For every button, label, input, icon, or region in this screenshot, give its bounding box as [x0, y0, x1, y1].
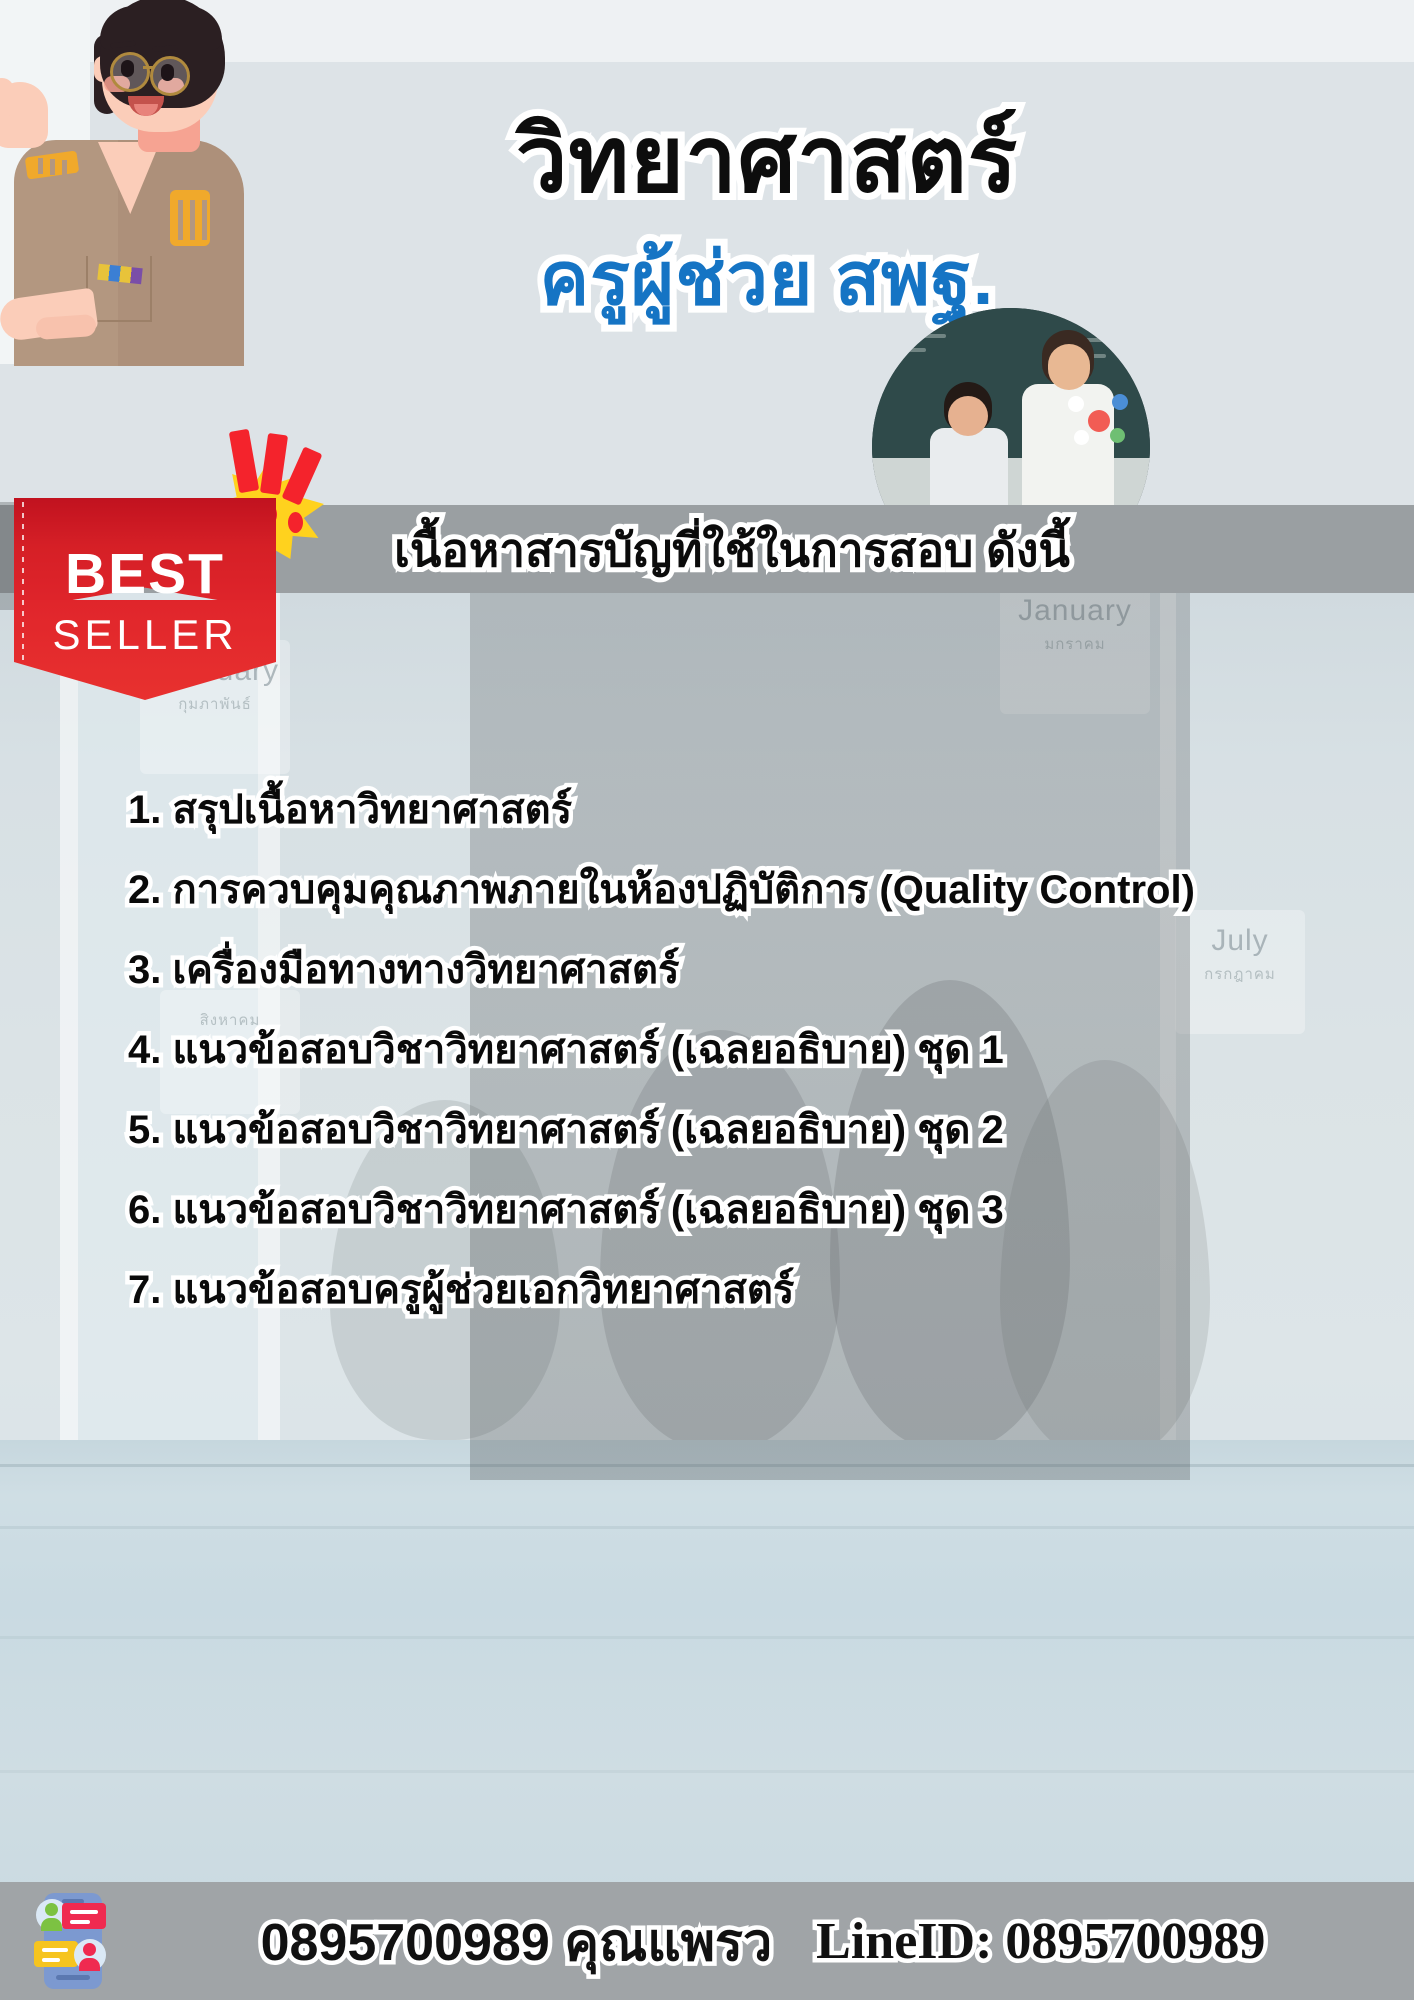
calendar-month-th: กุมภาพันธ์ — [140, 692, 290, 716]
list-item: 1. สรุปเนื้อหาวิทยาศาสตร์ — [0, 790, 1414, 830]
list-item: 7. แนวข้อสอบครูผู้ช่วยเอกวิทยาศาสตร์ — [0, 1270, 1414, 1310]
list-item: 3. เครื่องมือทางทางวิทยาศาสตร์ — [0, 950, 1414, 990]
page-title: วิทยาศาสตร์ — [0, 112, 1414, 209]
content-list: 1. สรุปเนื้อหาวิทยาศาสตร์ 2. การควบคุมคุ… — [0, 790, 1414, 1350]
footer-phone: 0895700989 คุณแพรว — [261, 1900, 773, 1983]
badge-seller-label: SELLER — [14, 614, 276, 656]
poster-root: February กุมภาพันธ์ January มกราคม July … — [0, 0, 1414, 2000]
page-subtitle: ครูผู้ช่วย สพฐ. — [0, 240, 1414, 318]
list-item: 2. การควบคุมคุณภาพภายในห้องปฏิบัติการ (Q… — [0, 870, 1414, 910]
contact-footer: 0895700989 คุณแพรว LineID: 0895700989 — [0, 1882, 1414, 2000]
list-item: 5. แนวข้อสอบวิชาวิทยาศาสตร์ (เฉลยอธิบาย)… — [0, 1110, 1414, 1150]
list-item: 4. แนวข้อสอบวิชาวิทยาศาสตร์ (เฉลยอธิบาย)… — [0, 1030, 1414, 1070]
footer-line-id: LineID: 0895700989 — [816, 1912, 1265, 1971]
list-item: 6. แนวข้อสอบวิชาวิทยาศาสตร์ (เฉลยอธิบาย)… — [0, 1190, 1414, 1230]
contact-card-phone-icon — [18, 1889, 122, 1993]
banner-text: เนื้อหาสารบัญที่ใช้ในการสอบ ดังนี้ — [0, 508, 1414, 592]
molecule-model-icon — [1068, 394, 1130, 450]
